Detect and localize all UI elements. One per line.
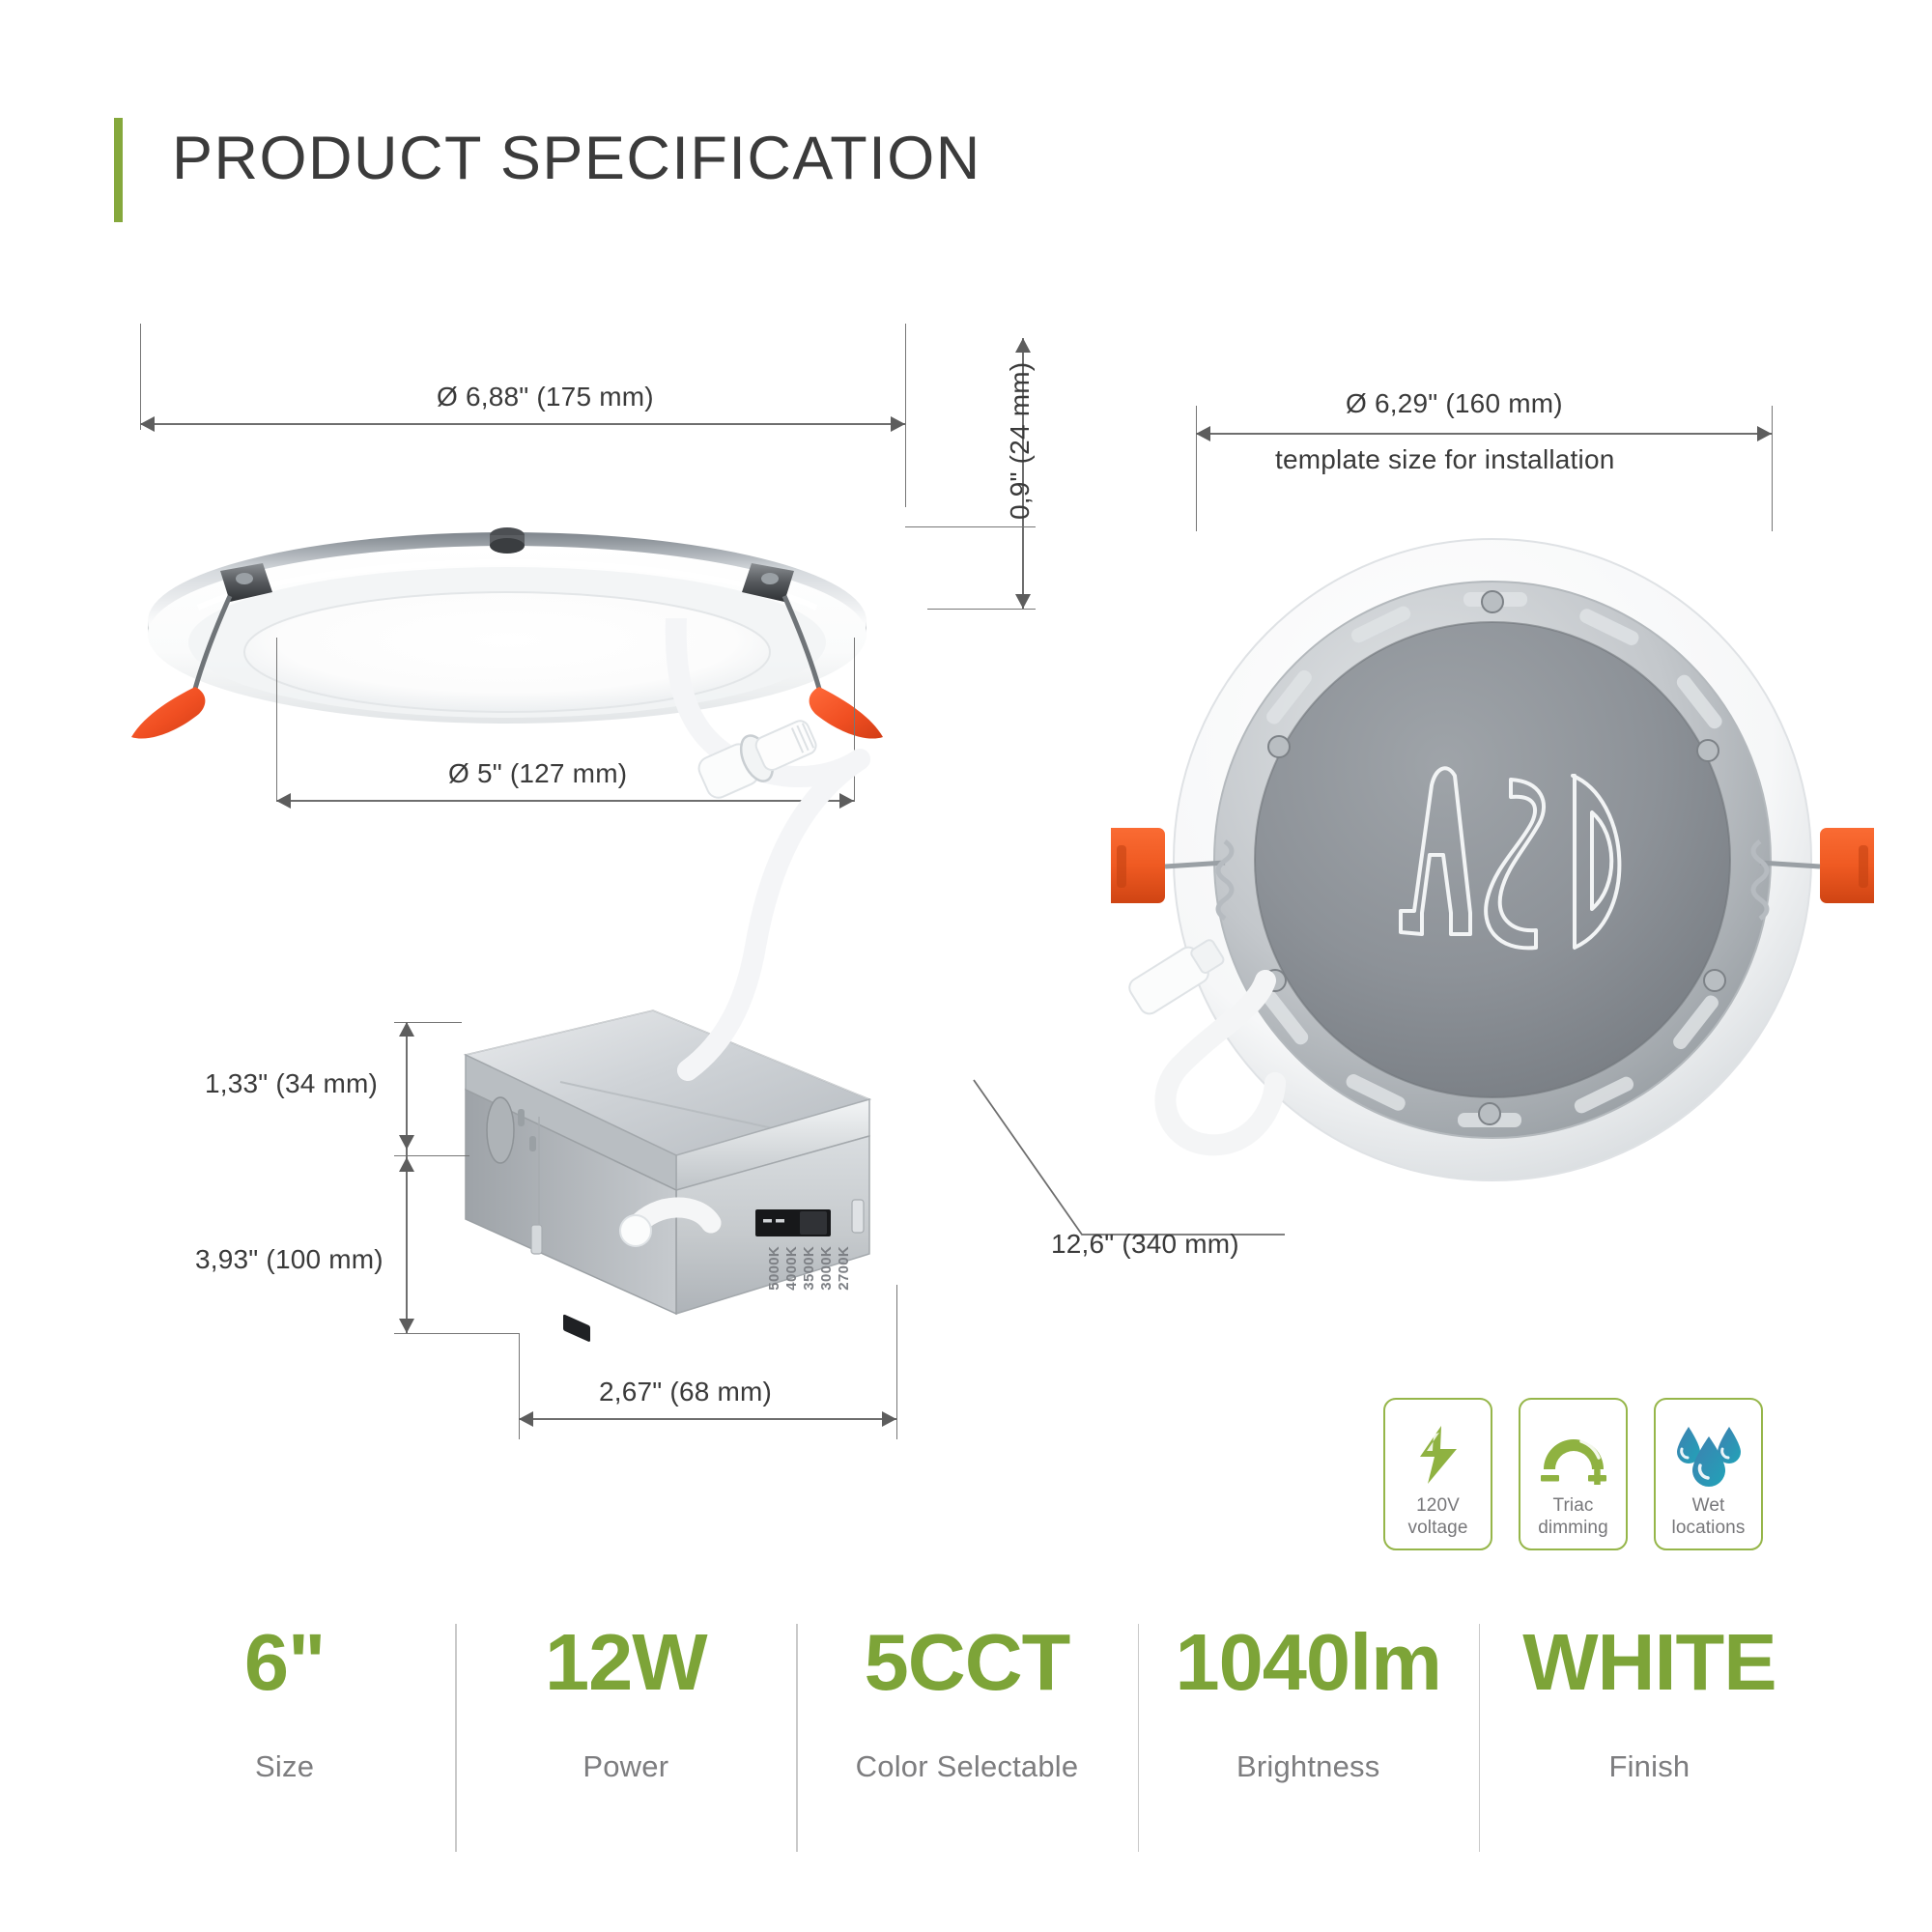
- depth-dim-extension-top: [905, 526, 1036, 527]
- aperture-dim-arrow-left: [276, 793, 291, 809]
- cutout-dim-extension-right: [1772, 406, 1773, 531]
- jbox-height-dim-line: [406, 1022, 408, 1333]
- jbox-body-dim-arrow: [399, 1157, 414, 1172]
- badge-triac-label-line2: dimming: [1538, 1517, 1608, 1539]
- depth-dim-arrow-top: [1015, 338, 1031, 353]
- jbox-width-extension-right: [896, 1285, 897, 1439]
- jbox-lid-height-label: 1,33" (34 mm): [205, 1068, 378, 1099]
- cct-label-5000k: 5000K: [766, 1246, 782, 1291]
- front-outer-dim-arrow-left: [140, 416, 155, 432]
- badge-120v-voltage[interactable]: 120V voltage: [1383, 1398, 1492, 1550]
- badge-wet-label-line2: locations: [1672, 1517, 1746, 1539]
- badge-triac-dimming[interactable]: Triac dimming: [1519, 1398, 1628, 1550]
- spec-finish-label: Finish: [1608, 1749, 1690, 1784]
- lightning-bolt-icon: [1412, 1419, 1464, 1491]
- front-outer-dim-extension-left: [140, 324, 141, 430]
- cutout-dim-arrow-right: [1757, 426, 1772, 441]
- spec-finish-value: WHITE: [1522, 1618, 1776, 1707]
- front-outer-dim-arrow-right: [891, 416, 905, 432]
- badge-120v-label-line2: voltage: [1408, 1517, 1468, 1539]
- header-accent-bar: [114, 118, 123, 222]
- spec-cct-label: Color Selectable: [856, 1749, 1079, 1784]
- jbox-dim-arrow-bottom: [399, 1319, 414, 1333]
- front-outer-dim-line: [140, 423, 905, 425]
- front-outer-diameter-label: Ø 6,88" (175 mm): [437, 382, 654, 412]
- water-drops-icon: [1673, 1419, 1745, 1491]
- spec-size-label: Size: [255, 1749, 314, 1784]
- spec-color-selectable: 5CCT Color Selectable: [796, 1618, 1137, 1861]
- spec-size-value: 6": [244, 1618, 326, 1707]
- cable-length-label: 12,6" (340 mm): [1051, 1229, 1239, 1260]
- aperture-dim-extension-left: [276, 638, 277, 802]
- depth-dim-extension-bottom: [927, 609, 1036, 610]
- feature-badges: 120V voltage Triac dimming: [1383, 1398, 1763, 1550]
- spec-summary-strip: 6" Size 12W Power 5CCT Color Selectable …: [114, 1618, 1820, 1861]
- cct-selector-labels: 5000K 4000K 3500K 3000K 2700K: [766, 1246, 852, 1291]
- cutout-dim-arrow-left: [1196, 426, 1210, 441]
- jbox-body-height-label: 3,93" (100 mm): [195, 1244, 384, 1275]
- front-outer-dim-extension-right: [905, 324, 906, 507]
- spec-power-value: 12W: [545, 1618, 707, 1707]
- cutout-diameter-label: Ø 6,29" (160 mm): [1346, 388, 1563, 419]
- jbox-dim-arrow-top: [399, 1022, 414, 1037]
- badge-wet-locations[interactable]: Wet locations: [1654, 1398, 1763, 1550]
- badge-120v-label-line1: 120V: [1416, 1494, 1460, 1517]
- badge-wet-label-line1: Wet: [1692, 1494, 1725, 1517]
- spec-brightness: 1040lm Brightness: [1138, 1618, 1479, 1861]
- spec-cct-value: 5CCT: [865, 1618, 1070, 1707]
- cutout-dim-extension-left: [1196, 406, 1197, 531]
- depth-dim-arrow-bottom: [1015, 594, 1031, 609]
- cutout-template-note: template size for installation: [1275, 444, 1615, 475]
- jbox-width-label: 2,67" (68 mm): [599, 1377, 772, 1407]
- jbox-width-arrow-right: [882, 1411, 896, 1427]
- jbox-lid-dim-arrow-top: [399, 1135, 414, 1150]
- spec-brightness-value: 1040lm: [1175, 1618, 1441, 1707]
- spec-brightness-label: Brightness: [1236, 1749, 1379, 1784]
- badge-triac-label-line1: Triac: [1552, 1494, 1593, 1517]
- cct-label-2700k: 2700K: [836, 1246, 852, 1291]
- housing-depth-label: 0,9" (24 mm): [1005, 362, 1036, 520]
- spec-power: 12W Power: [455, 1618, 796, 1861]
- page-title: PRODUCT SPECIFICATION: [172, 124, 981, 193]
- jbox-dim-extension-bottom: [394, 1333, 520, 1334]
- cct-label-4000k: 4000K: [783, 1246, 800, 1291]
- cutout-dim-line: [1196, 433, 1772, 435]
- cct-label-3500k: 3500K: [801, 1246, 817, 1291]
- jbox-width-dim-line: [519, 1418, 896, 1420]
- product-specification-sheet: PRODUCT SPECIFICATION: [0, 0, 1932, 1932]
- spec-size: 6" Size: [114, 1618, 455, 1861]
- cct-label-3000k: 3000K: [818, 1246, 835, 1291]
- spec-finish: WHITE Finish: [1479, 1618, 1820, 1861]
- dimmer-arc-icon: [1538, 1419, 1609, 1491]
- spec-power-label: Power: [582, 1749, 668, 1784]
- jbox-width-arrow-left: [519, 1411, 533, 1427]
